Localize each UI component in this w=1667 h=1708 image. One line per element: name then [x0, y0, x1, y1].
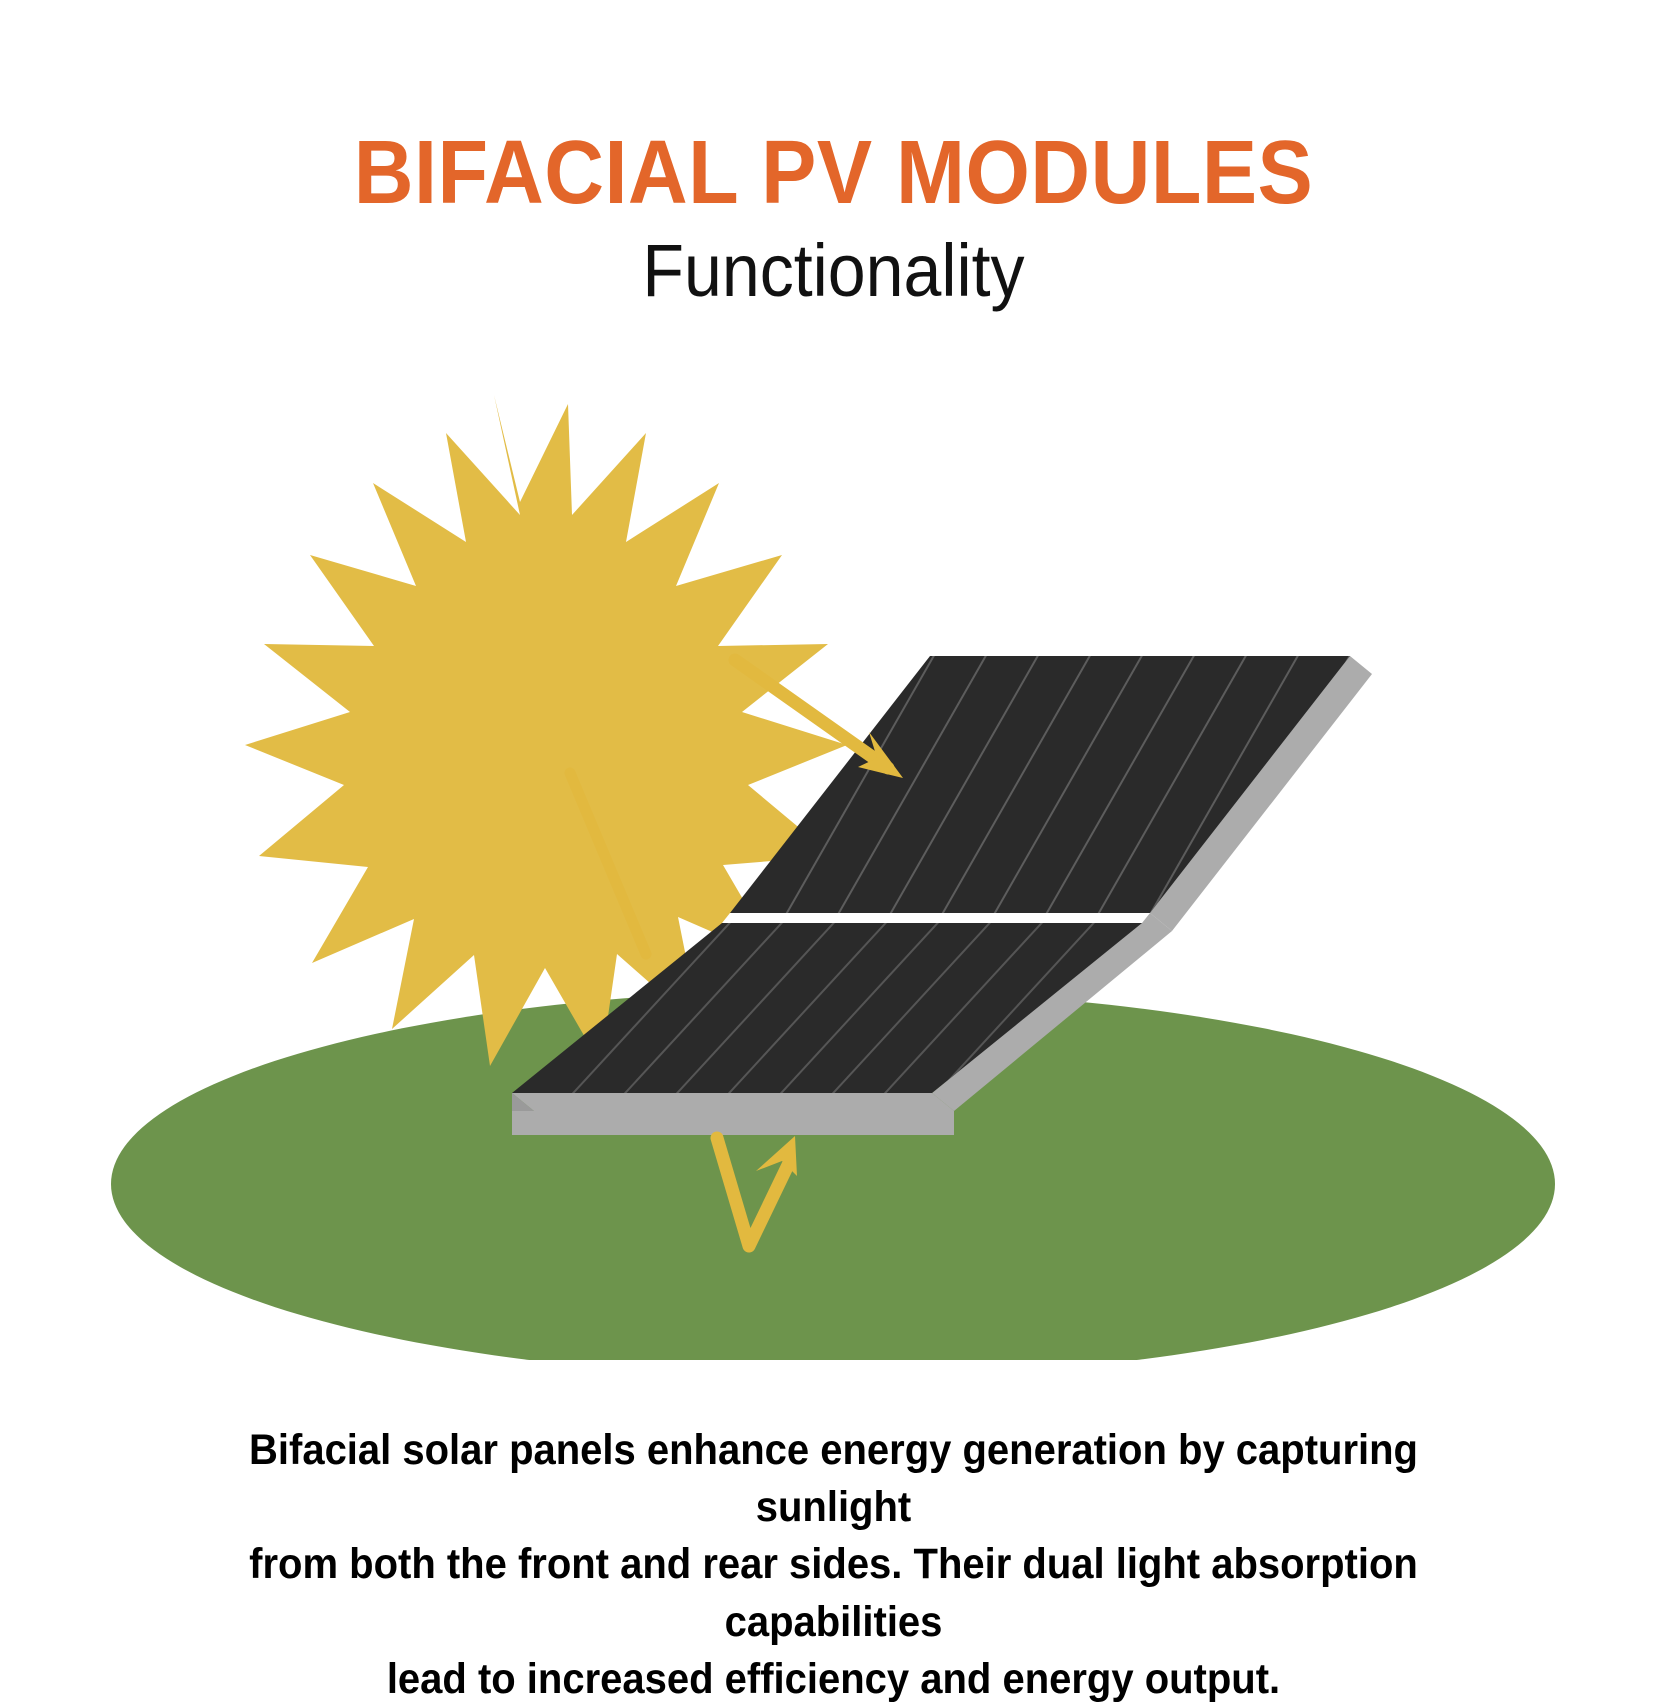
- panel-bottom-edge: [512, 1093, 954, 1111]
- caption-line-3: lead to increased efficiency and energy …: [170, 1651, 1497, 1708]
- caption-line-2: from both the front and rear sides. Thei…: [170, 1536, 1497, 1650]
- illustration-svg: [0, 360, 1667, 1360]
- infographic-canvas: BIFACIAL PV MODULES Functionality: [0, 0, 1667, 1667]
- page-title: BIFACIAL PV MODULES: [67, 128, 1601, 218]
- panel-center-gap: [722, 913, 1150, 923]
- header: BIFACIAL PV MODULES Functionality: [0, 0, 1667, 308]
- caption-line-1: Bifacial solar panels enhance energy gen…: [170, 1422, 1497, 1536]
- page-subtitle: Functionality: [67, 218, 1601, 308]
- caption-block: Bifacial solar panels enhance energy gen…: [120, 1422, 1547, 1708]
- solar-panel-illustration: [0, 360, 1667, 1360]
- panel-frame-band: [512, 1111, 954, 1135]
